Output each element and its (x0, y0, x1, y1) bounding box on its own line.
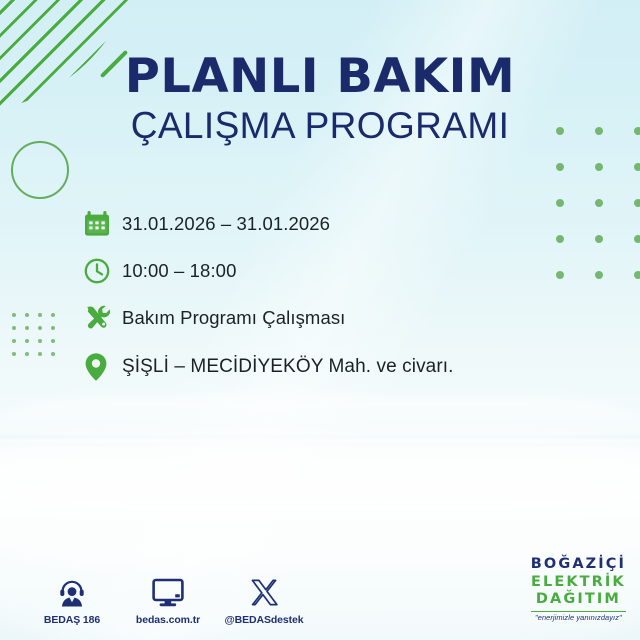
detail-worktype-value: Bakım Programı Çalışması (122, 307, 345, 329)
footer-contacts: BEDAŞ 186 bedas.com.tr @BEDASdestek (24, 574, 312, 626)
page-title: PLANLI BAKIM ÇALIŞMA PROGRAMI (0, 52, 640, 147)
background-wave (0, 395, 640, 515)
brand-tagline: "enerjimizle yanınızdayız" (531, 613, 626, 622)
background-wave (0, 430, 640, 570)
detail-row-location: ŞİŞLİ – MECİDİYEKÖY Mah. ve civarı. (84, 341, 604, 393)
x-twitter-icon (249, 574, 279, 608)
detail-row-date: 31.01.2026 – 31.01.2026 (84, 200, 604, 247)
monitor-icon (152, 574, 184, 608)
calendar-icon (84, 207, 122, 241)
dot-grid-left-decoration (12, 313, 55, 356)
tools-icon (84, 301, 122, 335)
map-pin-icon (84, 350, 122, 384)
headset-agent-icon (57, 574, 87, 608)
contact-social[interactable]: @BEDASdestek (216, 574, 312, 626)
brand-line-bogazici: BOĞAZİÇİ (531, 556, 626, 574)
contact-website-label: bedas.com.tr (136, 614, 200, 626)
brand-line-elektrik: ELEKTRİK (531, 574, 626, 592)
circle-outline-decoration (11, 141, 69, 199)
contact-website[interactable]: bedas.com.tr (120, 574, 216, 626)
poster-canvas: PLANLI BAKIM ÇALIŞMA PROGRAMI (0, 0, 640, 640)
detail-row-worktype: Bakım Programı Çalışması (84, 294, 604, 341)
clock-icon (84, 254, 122, 288)
title-secondary: ÇALIŞMA PROGRAMI (0, 106, 640, 147)
contact-phone-label: BEDAŞ 186 (44, 614, 100, 626)
detail-date-value: 31.01.2026 – 31.01.2026 (122, 213, 330, 235)
contact-phone[interactable]: BEDAŞ 186 (24, 574, 120, 626)
detail-time-value: 10:00 – 18:00 (122, 260, 236, 282)
detail-location-value: ŞİŞLİ – MECİDİYEKÖY Mah. ve civarı. (122, 356, 454, 378)
brand-logo: BOĞAZİÇİ ELEKTRİK DAĞITIM "enerjimizle y… (531, 556, 626, 622)
brand-line-dagitim: DAĞITIM (531, 591, 626, 609)
background-band (0, 436, 640, 438)
contact-social-label: @BEDASdestek (224, 614, 303, 626)
detail-row-time: 10:00 – 18:00 (84, 247, 604, 294)
brand-divider (531, 611, 626, 612)
outage-details-list: 31.01.2026 – 31.01.2026 10:00 – 18:00 (84, 200, 604, 393)
background-band (0, 444, 640, 446)
title-primary: PLANLI BAKIM (0, 52, 640, 102)
